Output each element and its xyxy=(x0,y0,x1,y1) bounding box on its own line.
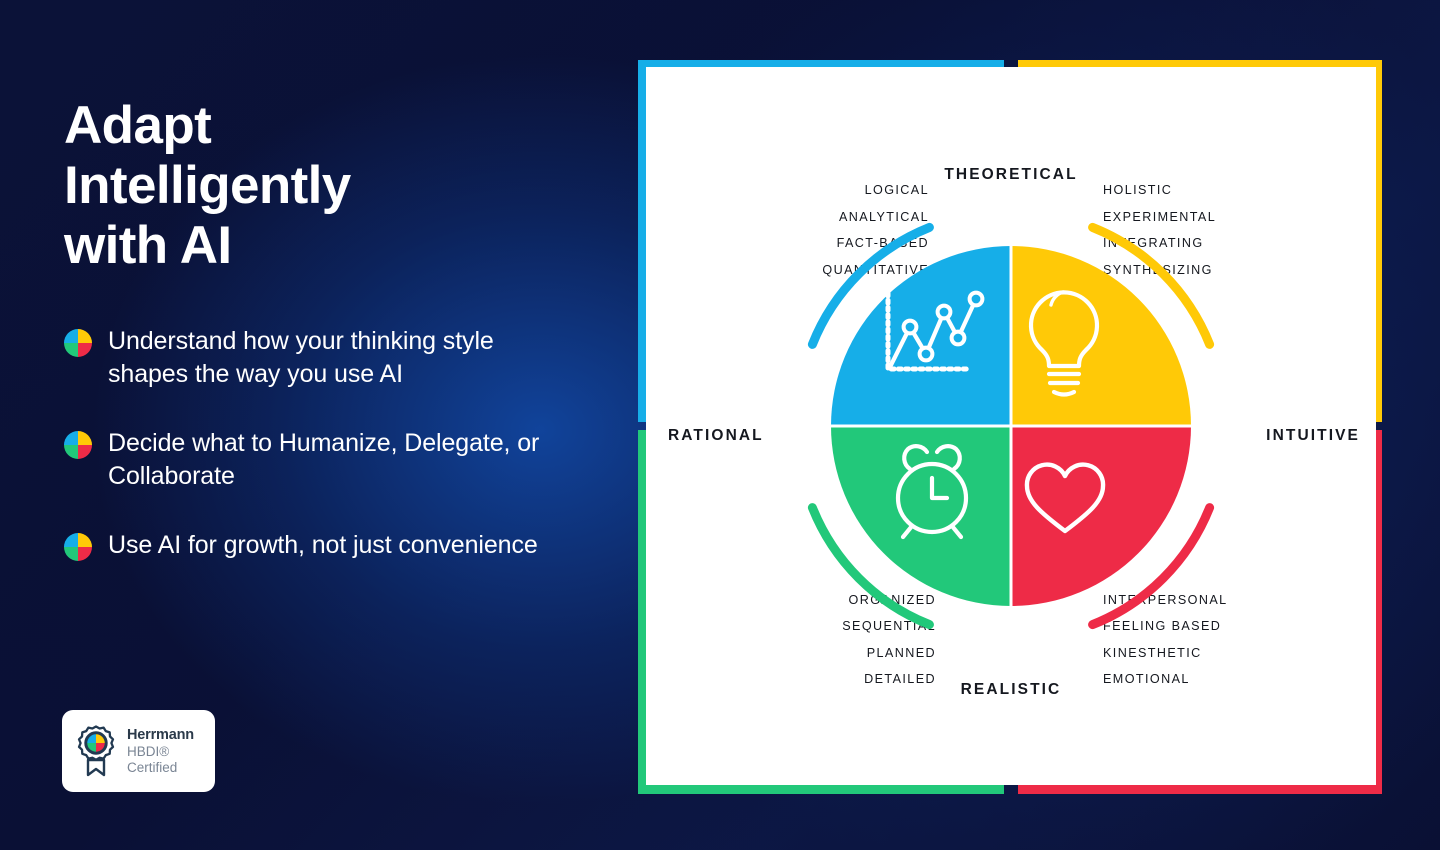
attribute-item: DETAILED xyxy=(842,666,936,693)
axis-label-rational: RATIONAL xyxy=(668,427,764,445)
badge-line-product: HBDI® xyxy=(127,744,194,760)
hbdi-quadrant-bullet-icon xyxy=(64,431,92,459)
hbdi-wheel-card: THEORETICAL REALISTIC RATIONAL INTUITIVE… xyxy=(646,67,1376,785)
herrmann-hbdi-certified-badge: Herrmann HBDI® Certified xyxy=(62,710,215,792)
quadrant-discs xyxy=(831,246,1191,606)
list-item: Use AI for growth, not just convenience xyxy=(64,529,604,562)
attribute-item: EMOTIONAL xyxy=(1103,666,1228,693)
list-item-label: Use AI for growth, not just convenience xyxy=(108,529,538,562)
hbdi-quadrant-bullet-icon xyxy=(64,329,92,357)
attribute-item: HOLISTIC xyxy=(1103,177,1216,204)
axis-label-theoretical: THEORETICAL xyxy=(944,166,1077,184)
axis-label-intuitive: INTUITIVE xyxy=(1266,427,1360,445)
benefits-list: Understand how your thinking style shape… xyxy=(64,325,604,562)
rosette-ribbon-icon xyxy=(74,724,118,778)
list-item-label: Understand how your thinking style shape… xyxy=(108,325,578,391)
badge-text-block: Herrmann HBDI® Certified xyxy=(127,727,194,776)
badge-line-status: Certified xyxy=(127,760,194,776)
page-title: Adapt Intelligently with AI xyxy=(64,96,584,276)
attribute-item: LOGICAL xyxy=(822,177,929,204)
left-content-panel: Adapt Intelligently with AI Understand h… xyxy=(0,0,640,850)
hbdi-wheel-card-frame: THEORETICAL REALISTIC RATIONAL INTUITIVE… xyxy=(638,60,1382,794)
hbdi-four-quadrant-wheel xyxy=(786,201,1236,651)
list-item: Understand how your thinking style shape… xyxy=(64,325,604,391)
axis-label-realistic: REALISTIC xyxy=(961,681,1062,699)
badge-line-brand: Herrmann xyxy=(127,727,194,744)
hbdi-quadrant-bullet-icon xyxy=(64,533,92,561)
list-item-label: Decide what to Humanize, Delegate, or Co… xyxy=(108,427,578,493)
poster-canvas: Adapt Intelligently with AI Understand h… xyxy=(0,0,1440,850)
list-item: Decide what to Humanize, Delegate, or Co… xyxy=(64,427,604,493)
